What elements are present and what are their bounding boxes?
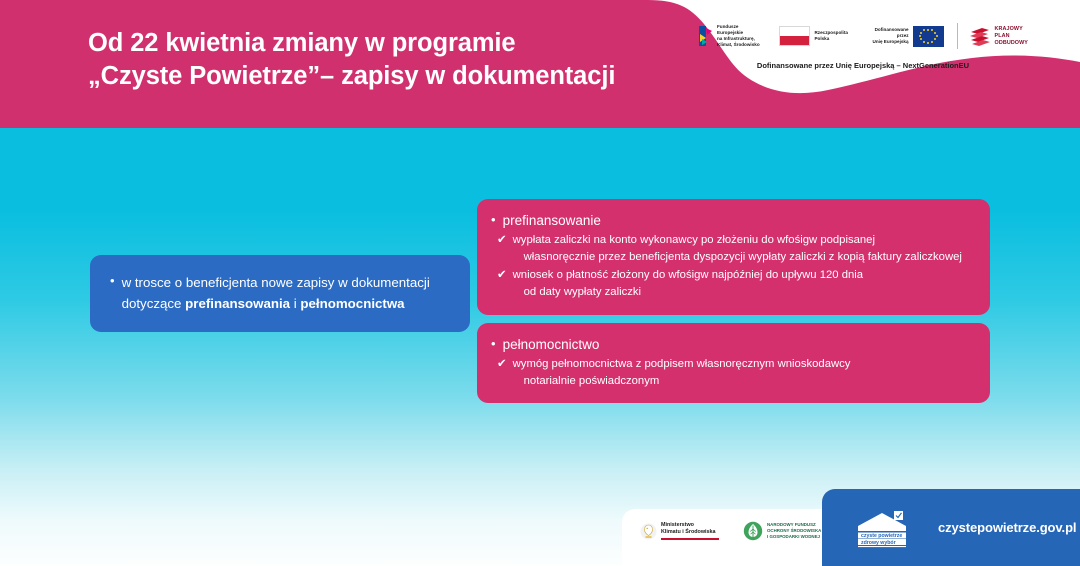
blue-box-line2-mid: i (290, 296, 300, 311)
bullet-dot-icon: • (491, 335, 496, 352)
ministerstwo-klimatu-caption-wrap: Ministerstwo Klimatu i Środowiska (661, 522, 719, 539)
slide-canvas: Od 22 kwietnia zmiany w programie „Czyst… (0, 0, 1080, 566)
rzeczpospolita-polska-logo: Rzeczpospolita Polska (779, 26, 847, 46)
blue-box-line2: dotyczące prefinansowania i pełnomocnict… (122, 293, 430, 314)
czyste-powietrze-logo-line2: zdrowy wybór (861, 539, 896, 545)
list-item: ✔ wymóg pełnomocnictwa z podpisem własno… (491, 356, 974, 389)
fundusze-europejskie-caption: Fundusze Europejskie na Infrastrukturę, … (717, 24, 765, 49)
krajowy-plan-odbudowy-logo: KRAJOWY PLAN ODBUDOWY (969, 26, 1028, 47)
polish-eagle-icon (640, 522, 657, 541)
unia-europejska-logo: Dofinansowane przez Unię Europejską (862, 26, 944, 47)
check-icon: ✔ (491, 232, 507, 249)
list-item-line2: własnoręcznie przez beneficjenta dyspozy… (513, 249, 962, 266)
nfosigw-caption: NARODOWY FUNDUSZ OCHRONY ŚRODOWISKA I GO… (767, 522, 821, 540)
blue-box-line1: w trosce o beneficjenta nowe zapisy w do… (122, 275, 430, 290)
bullet-dot-icon: • (110, 272, 115, 289)
list-item-text: wymóg pełnomocnictwa z podpisem własnorę… (513, 356, 851, 389)
fundusze-europejskie-icon (698, 25, 713, 47)
list-item-line1: wymóg pełnomocnictwa z podpisem własnorę… (513, 358, 851, 370)
czyste-powietrze-badge[interactable]: czyste powietrze zdrowy wybór czystepowi… (822, 489, 1080, 566)
czyste-powietrze-logo-line1: czyste powietrze (861, 533, 902, 539)
list-item: ✔ wypłata zaliczki na konto wykonawcy po… (491, 232, 974, 265)
list-item-line1: wypłata zaliczki na konto wykonawcy po z… (513, 234, 875, 246)
ministry-red-rule (661, 538, 719, 539)
ministerstwo-klimatu-caption: Ministerstwo Klimatu i Środowiska (661, 522, 719, 536)
czyste-powietrze-house-icon: czyste powietrze zdrowy wybór (852, 508, 916, 548)
fundusze-europejskie-logo: Fundusze Europejskie na Infrastrukturę, … (698, 24, 765, 49)
nfosigw-logo: NARODOWY FUNDUSZ OCHRONY ŚRODOWISKA I GO… (743, 521, 821, 541)
czyste-powietrze-url[interactable]: czystepowietrze.gov.pl (938, 520, 1076, 535)
page-title-line2: „Czyste Powietrze”– zapisy w dokumentacj… (88, 60, 648, 93)
blue-box-bold-prefinansowania: prefinansowania (185, 296, 290, 311)
pink-box-heading: pełnomocnictwo (503, 335, 600, 354)
funding-note: Dofinansowane przez Unię Europejską – Ne… (698, 61, 1028, 70)
list-item: ✔ wniosek o płatność złożony do wfośigw … (491, 267, 974, 300)
list-item-line1: wniosek o płatność złożony do wfośigw na… (513, 269, 863, 281)
pink-box-heading: prefinansowanie (503, 211, 601, 230)
rzeczpospolita-polska-caption: Rzeczpospolita Polska (814, 30, 847, 42)
info-box-blue: • w trosce o beneficjenta nowe zapisy w … (90, 255, 470, 332)
bullet-dot-icon: • (491, 211, 496, 228)
info-box-pelnomocnictwo: • pełnomocnictwo ✔ wymóg pełnomocnictwa … (477, 323, 990, 403)
page-title: Od 22 kwietnia zmiany w programie „Czyst… (88, 27, 648, 93)
check-icon: ✔ (491, 267, 507, 284)
eu-flag-icon (913, 26, 944, 47)
blue-box-bold-pelnomocnictwa: pełnomocnictwa (300, 296, 404, 311)
info-box-prefinansowanie: • prefinansowanie ✔ wypłata zaliczki na … (477, 199, 990, 315)
list-item-line2: od daty wypłaty zaliczki (513, 284, 863, 301)
check-icon: ✔ (491, 356, 507, 373)
blue-box-text: w trosce o beneficjenta nowe zapisy w do… (122, 272, 430, 314)
nfosigw-tree-icon (743, 521, 763, 541)
ministerstwo-klimatu-logo: Ministerstwo Klimatu i Środowiska (640, 522, 719, 541)
blue-box-line2-prefix: dotyczące (122, 296, 186, 311)
list-item-text: wniosek o płatność złożony do wfośigw na… (513, 267, 863, 300)
list-item-line2: notarialnie poświadczonym (513, 373, 851, 390)
krajowy-plan-odbudowy-caption: KRAJOWY PLAN ODBUDOWY (995, 26, 1028, 47)
poland-flag-icon (779, 26, 810, 46)
page-title-line1: Od 22 kwietnia zmiany w programie (88, 29, 516, 57)
logo-divider (957, 23, 958, 49)
footer-logo-group: Ministerstwo Klimatu i Środowiska NARODO… (640, 521, 821, 541)
header-banner: Od 22 kwietnia zmiany w programie „Czyst… (0, 0, 1080, 128)
list-item-text: wypłata zaliczki na konto wykonawcy po z… (513, 232, 962, 265)
unia-europejska-caption: Dofinansowane przez Unię Europejską (862, 27, 909, 46)
krajowy-plan-odbudowy-icon (969, 27, 991, 46)
funding-logo-strip: Fundusze Europejskie na Infrastrukturę, … (698, 16, 1028, 56)
